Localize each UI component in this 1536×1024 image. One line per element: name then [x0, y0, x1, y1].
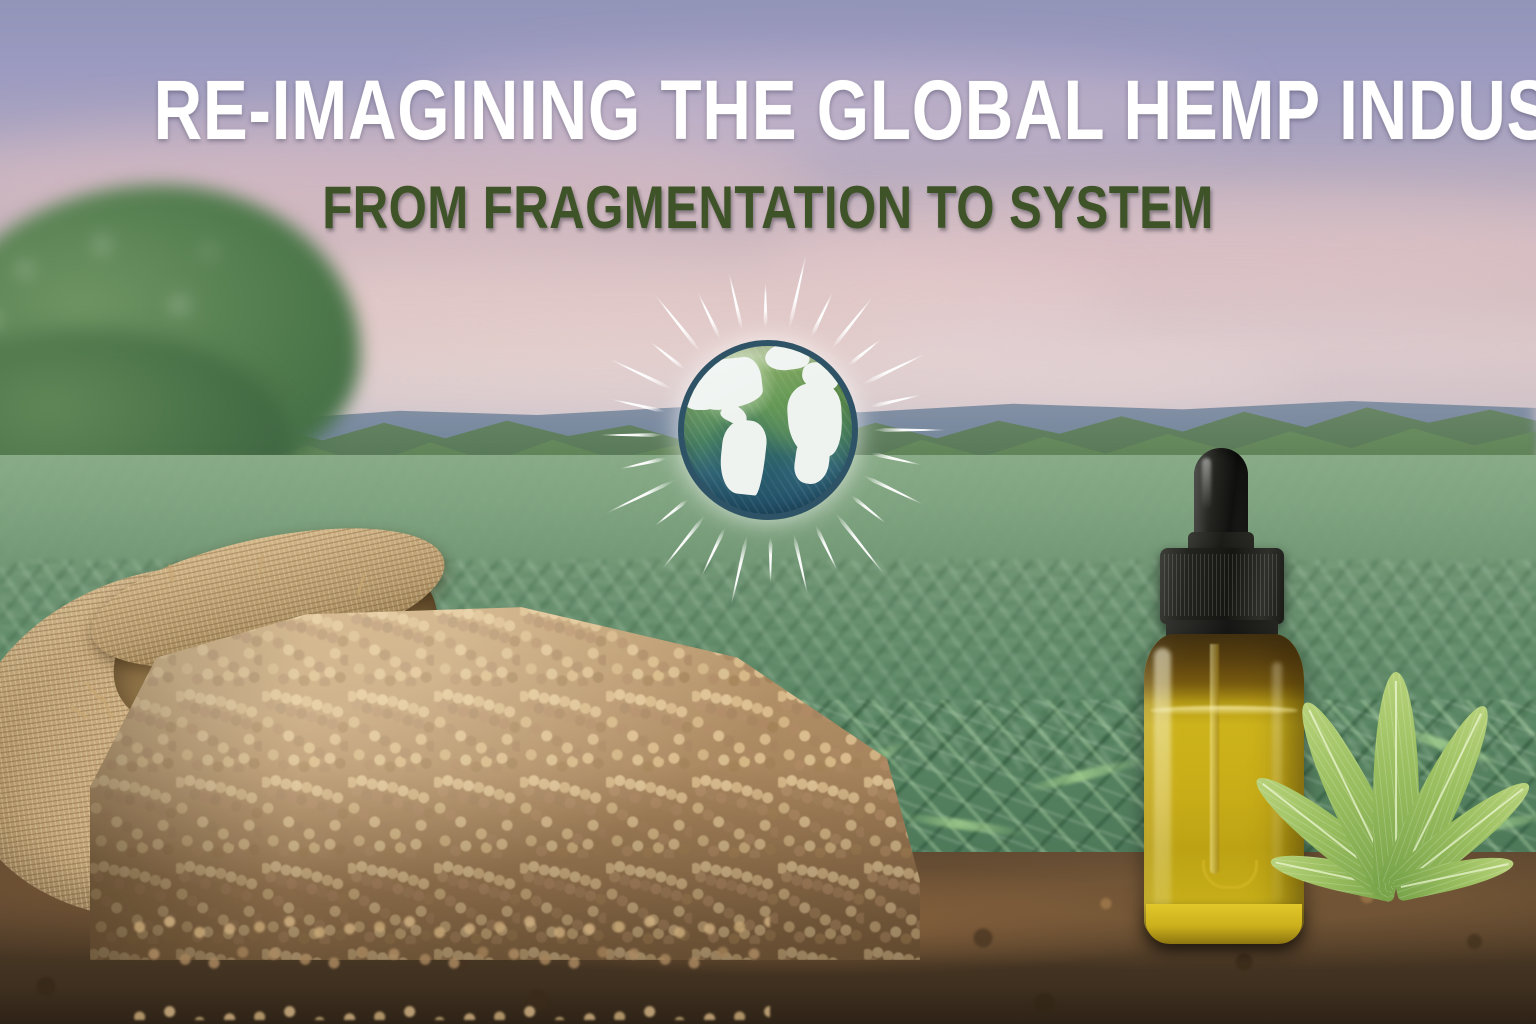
light-ray — [862, 473, 924, 506]
light-ray — [729, 534, 750, 605]
light-ray — [661, 514, 707, 570]
light-ray — [620, 456, 668, 472]
light-ray — [791, 533, 810, 595]
scattered-seeds — [130, 900, 770, 1020]
light-ray — [763, 283, 768, 329]
globe-emblem — [588, 250, 948, 610]
light-ray — [813, 524, 839, 571]
light-ray — [696, 292, 723, 341]
light-ray — [868, 392, 922, 409]
light-ray — [727, 273, 745, 333]
light-ray — [860, 352, 927, 388]
light-ray — [699, 526, 727, 577]
light-ray — [768, 537, 773, 583]
light-ray — [849, 493, 887, 524]
light-ray — [833, 511, 886, 575]
light-ray — [649, 340, 687, 371]
light-ray — [786, 254, 808, 331]
glass-highlight-left — [1154, 648, 1171, 918]
light-ray — [606, 478, 677, 515]
light-ray — [809, 292, 835, 339]
light-ray — [872, 428, 946, 433]
light-ray — [869, 451, 921, 467]
light-ray — [609, 357, 674, 392]
cap-ribbing — [1164, 554, 1280, 616]
hero-banner: RE-IMAGINING THE GLOBAL HEMP INDUSTRY FR… — [0, 0, 1536, 1024]
continent-north-america-west — [681, 380, 718, 410]
light-ray — [600, 433, 664, 438]
page-subtitle: FROM FRAGMENTATION TO SYSTEM — [138, 178, 1398, 238]
bulb-highlight — [1202, 458, 1211, 510]
light-ray — [829, 296, 874, 351]
globe-icon — [678, 340, 858, 520]
page-title: RE-IMAGINING THE GLOBAL HEMP INDUSTRY — [154, 68, 1383, 152]
pipette-tube — [1210, 644, 1219, 874]
light-ray — [611, 397, 667, 414]
cannabis-leaf — [1246, 650, 1536, 950]
